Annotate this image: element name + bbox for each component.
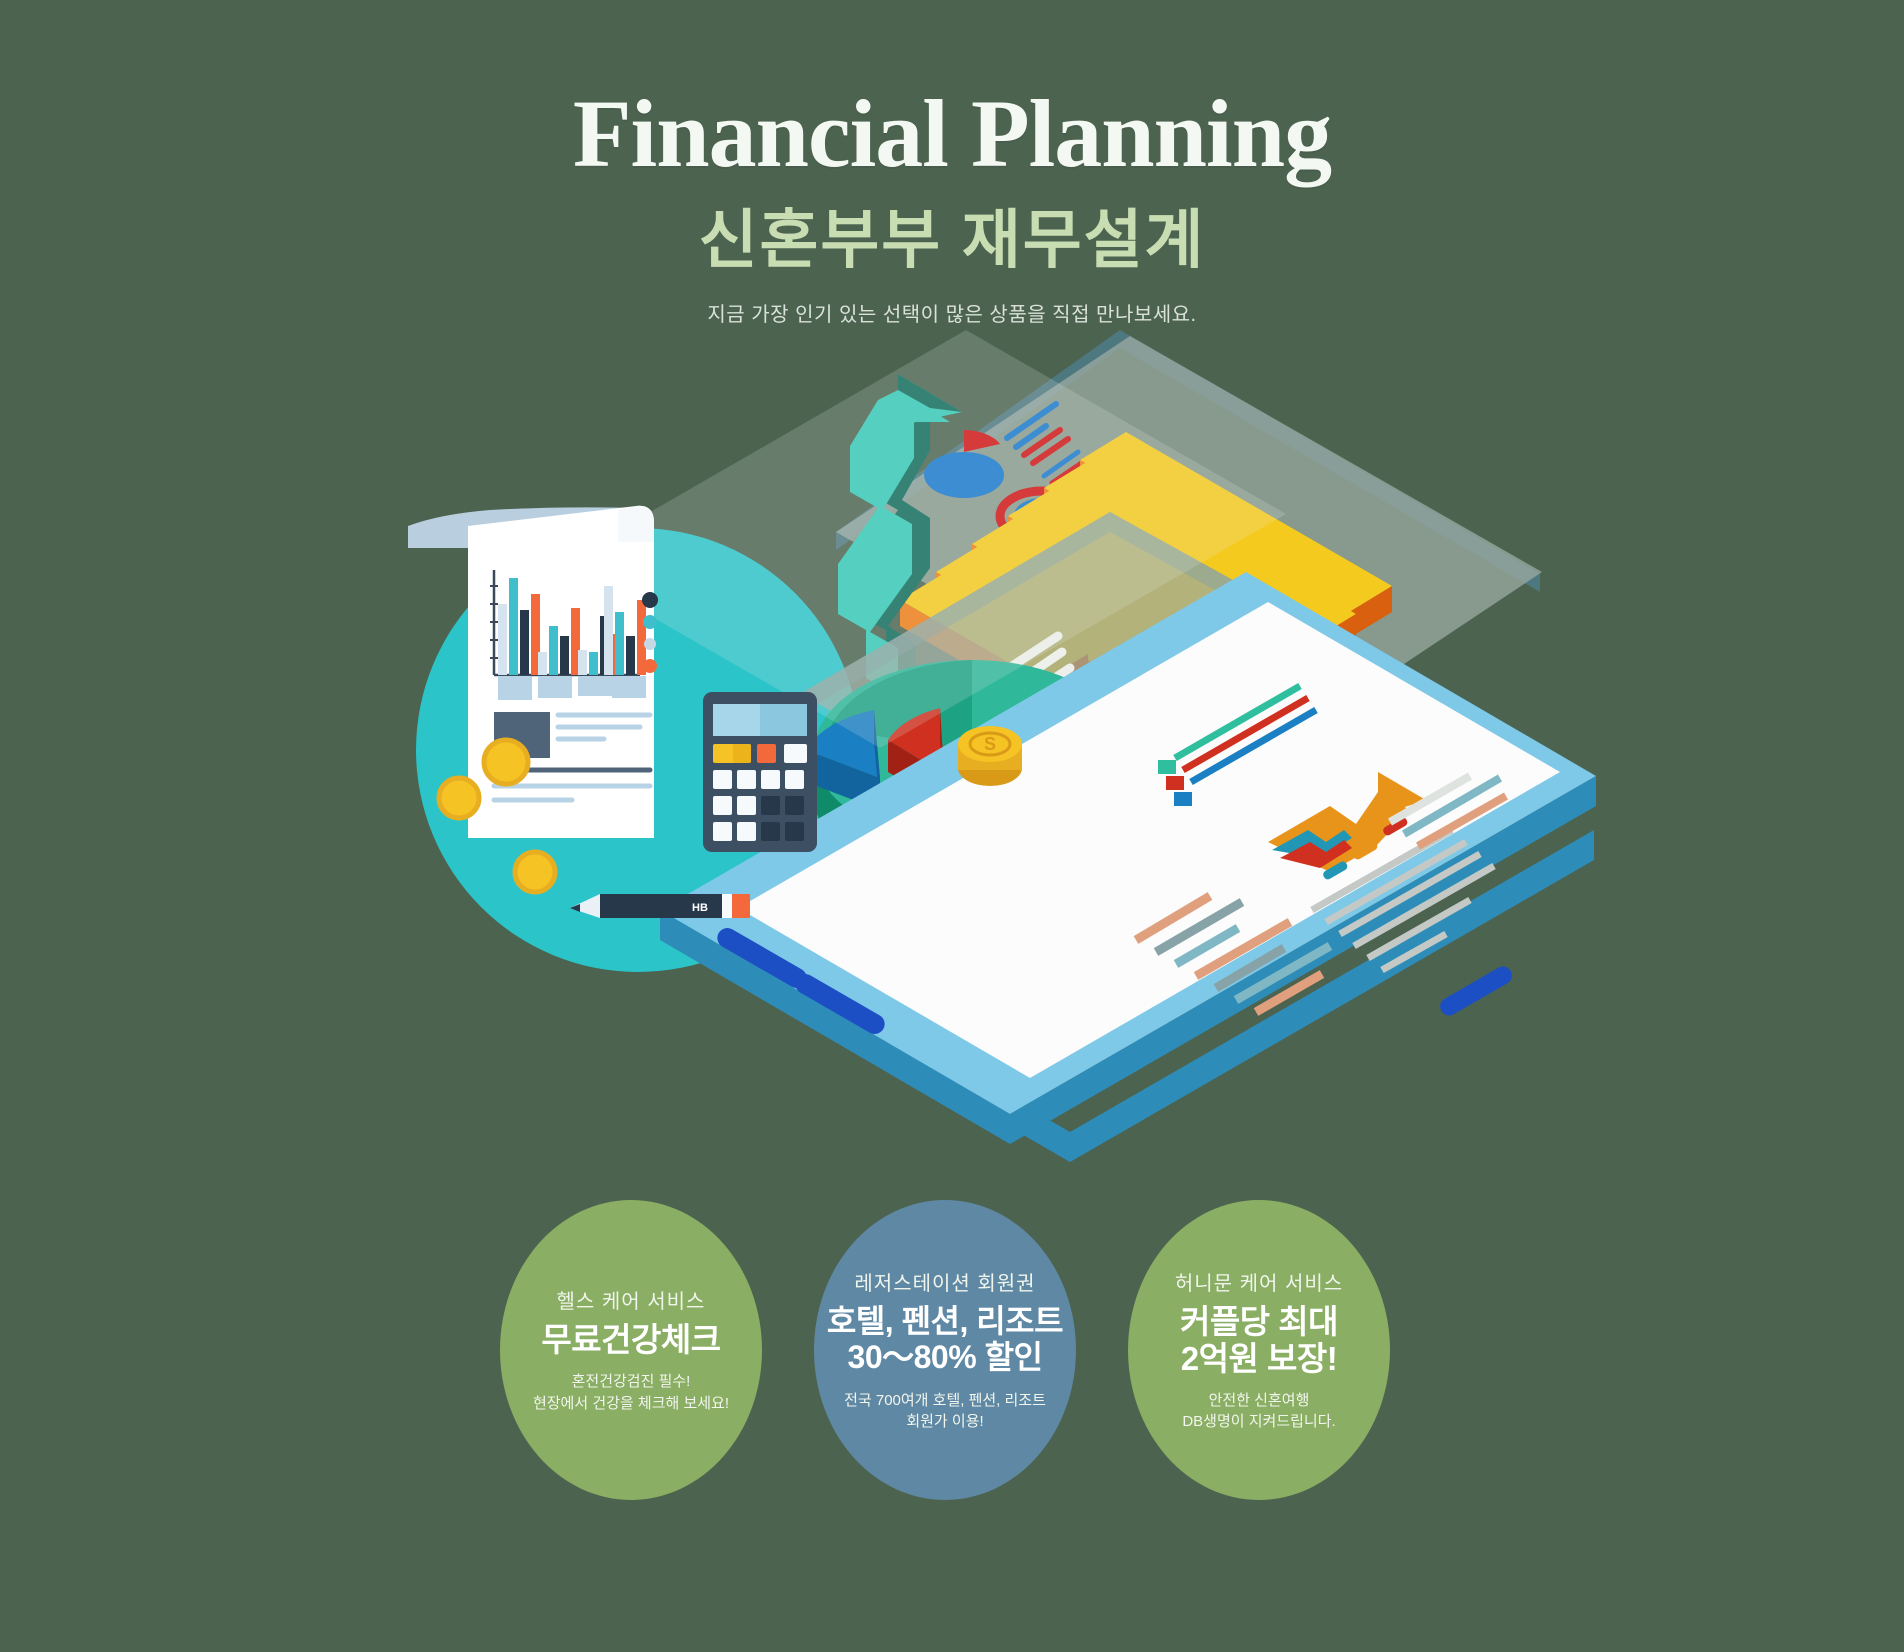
- feature-desc-line1: 전국 700여개 호텔, 펜션, 리조트: [844, 1392, 1046, 1409]
- financial-illustration-svg: S: [0, 330, 1904, 1220]
- feature-desc-line2: 현장에서 건강을 체크해 보세요!: [533, 1393, 729, 1415]
- feature-circle-leisure-station[interactable]: 레저스테이션 회원권 호텔, 펜션, 리조트 30〜80% 할인 전국 700여…: [814, 1200, 1076, 1500]
- calculator: [703, 692, 817, 852]
- pencil-hb: HB: [570, 894, 750, 918]
- feature-description: 혼전건강검진 필수! 현장에서 건강을 체크해 보세요!: [533, 1371, 729, 1415]
- hero-header: Financial Planning 신혼부부 재무설계 지금 가장 인기 있는…: [0, 0, 1904, 327]
- stacked-coins: S: [958, 726, 1022, 786]
- feature-headline-line1: 커플당 최대: [1180, 1303, 1338, 1340]
- feature-description: 전국 700여개 호텔, 펜션, 리조트 회원가 이용!: [844, 1390, 1046, 1434]
- feature-kicker: 레저스테이션 회원권: [854, 1267, 1035, 1296]
- page-subtitle: 지금 가장 인기 있는 선택이 많은 상품을 직접 만나보세요.: [0, 298, 1904, 327]
- feature-desc-line1: 안전한 신혼여행: [1209, 1392, 1310, 1409]
- page-title-korean: 신혼부부 재무설계: [0, 208, 1904, 272]
- feature-headline: 무료건강체크: [541, 1322, 720, 1359]
- feature-kicker: 허니문 케어 서비스: [1175, 1267, 1343, 1296]
- feature-kicker: 헬스 케어 서비스: [557, 1285, 706, 1314]
- feature-circle-honeymoon-care[interactable]: 허니문 케어 서비스 커플당 최대 2억원 보장! 안전한 신혼여행 DB생명이…: [1128, 1200, 1390, 1500]
- feature-headline-line1: 무료건강체크: [541, 1321, 720, 1358]
- feature-circle-health-care[interactable]: 헬스 케어 서비스 무료건강체크 혼전건강검진 필수! 현장에서 건강을 체크해…: [500, 1200, 762, 1500]
- feature-headline-line2: 30〜80% 할인: [827, 1340, 1063, 1376]
- feature-description: 안전한 신혼여행 DB생명이 지켜드립니다.: [1182, 1390, 1335, 1434]
- svg-text:S: S: [984, 734, 996, 754]
- hero-illustration: S: [0, 330, 1904, 1220]
- feature-headline-line2: 2억원 보장!: [1180, 1341, 1338, 1378]
- page-root: Financial Planning 신혼부부 재무설계 지금 가장 인기 있는…: [0, 0, 1904, 1652]
- page-title-english: Financial Planning: [0, 86, 1904, 182]
- feature-headline-line1: 호텔, 펜션, 리조트: [827, 1303, 1063, 1339]
- feature-headline: 호텔, 펜션, 리조트 30〜80% 할인: [827, 1304, 1063, 1376]
- feature-desc-line2: DB생명이 지켜드립니다.: [1182, 1411, 1335, 1433]
- svg-text:HB: HB: [692, 902, 708, 914]
- feature-desc-line1: 혼전건강검진 필수!: [572, 1373, 691, 1390]
- feature-headline: 커플당 최대 2억원 보장!: [1180, 1304, 1338, 1378]
- feature-circles: 헬스 케어 서비스 무료건강체크 혼전건강검진 필수! 현장에서 건강을 체크해…: [0, 1200, 1904, 1500]
- feature-desc-line2: 회원가 이용!: [844, 1411, 1046, 1433]
- phone-side-button-3[interactable]: [1437, 963, 1515, 1019]
